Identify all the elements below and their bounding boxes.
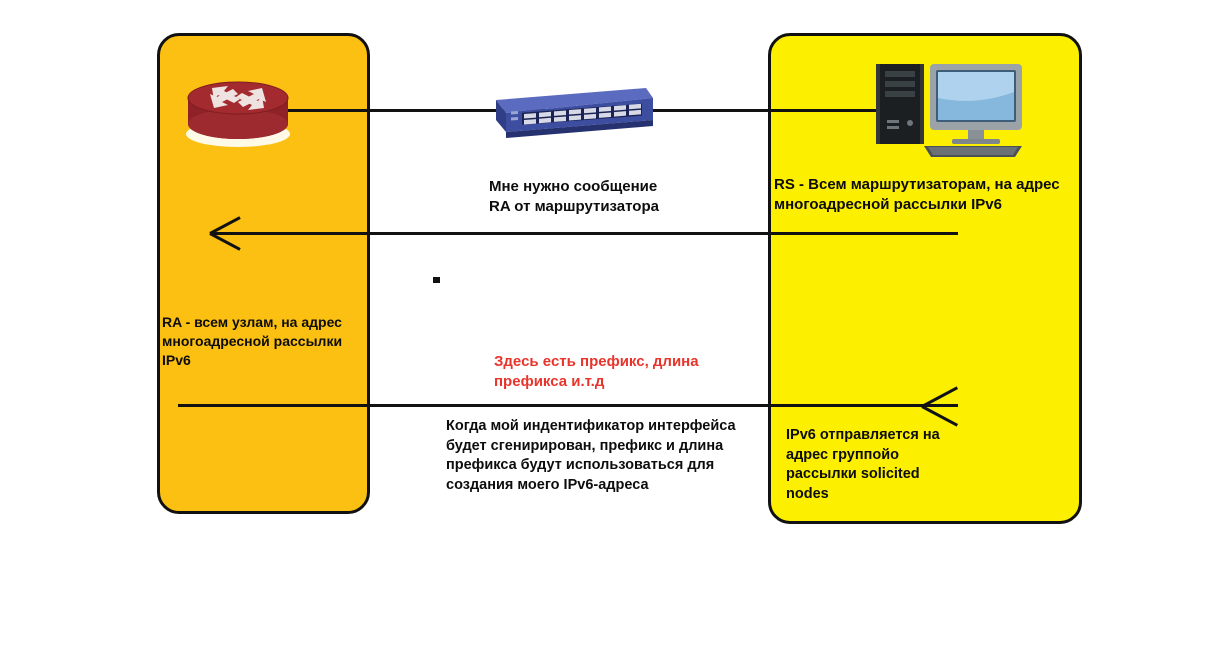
switch-icon — [478, 86, 653, 141]
ra-arrowhead — [210, 232, 244, 233]
label-interface-identifier: Когда мой индентификатор интерфейса буде… — [446, 417, 758, 495]
prefix-arrow-line — [178, 404, 958, 407]
label-prefix-note: Здесь есть префикс, длина префикса и.т.д — [494, 352, 734, 393]
ra-arrow-line — [212, 232, 958, 235]
label-rs-message: RS - Всем маршрутизаторам, на адрес мног… — [774, 175, 1086, 216]
pc-icon — [872, 58, 1027, 158]
label-solicited-nodes: IPv6 отправляется на адрес группойо расс… — [786, 426, 976, 504]
diagram-canvas: Мне нужно сообщение RA от маршрутизатора… — [0, 0, 1220, 653]
label-ra-message: RA - всем узлам, на адрес многоадресной … — [162, 313, 374, 370]
dot-marker — [433, 277, 440, 283]
label-need-ra: Мне нужно сообщение RA от маршрутизатора — [489, 177, 719, 218]
router-icon — [184, 74, 292, 150]
prefix-arrowhead — [958, 405, 959, 406]
